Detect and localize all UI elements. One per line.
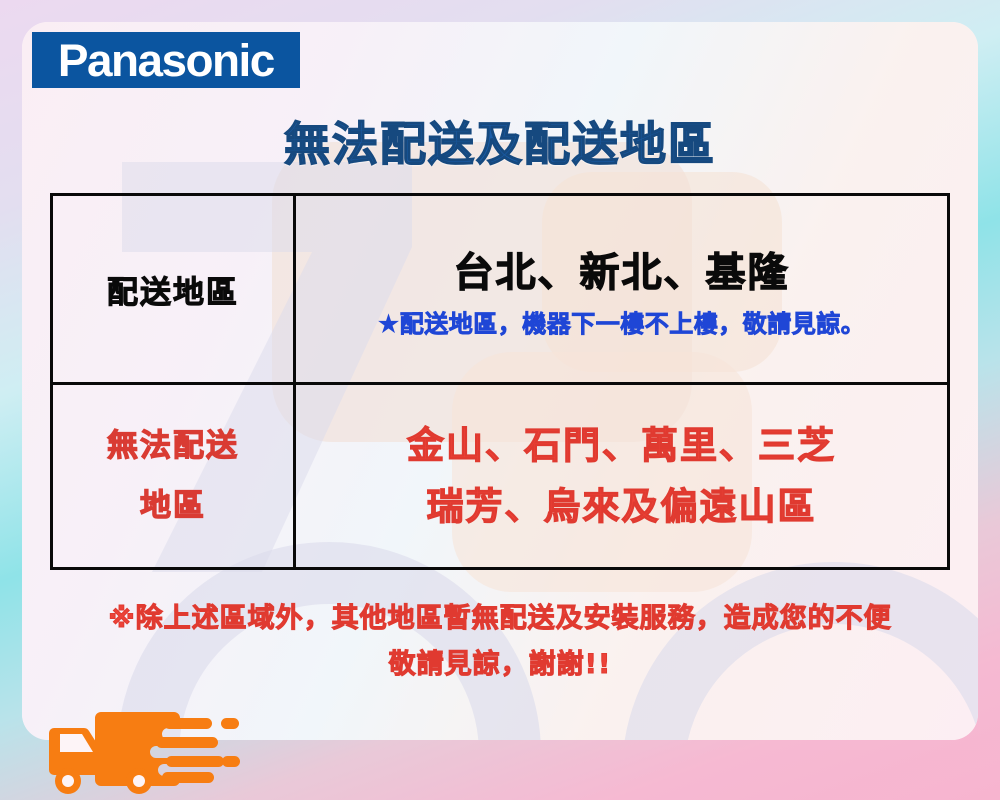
panasonic-logo: Panasonic (32, 32, 300, 88)
delivery-truck-icon (16, 694, 266, 794)
deliverable-note-text: ★配送地區，機器下一樓不上樓，敬請見諒。 (378, 304, 866, 339)
deliverable-areas-text: 台北、新北、基隆 (454, 240, 790, 298)
panasonic-logo-text: Panasonic (58, 38, 274, 83)
footer-note-line2: 敬請見諒，謝謝!! (40, 642, 960, 688)
delivery-area-poster: Panasonic 無法配送及配送地區 配送地區 台北、新北、基隆 ★配送地區，… (0, 0, 1000, 800)
table-row-non-deliverable: 無法配送 地區 金山、石門、萬里、三芝 瑞芳、烏來及偏遠山區 (53, 385, 947, 567)
row-label-non-deliverable: 無法配送 地區 (53, 385, 296, 567)
row-label-non-deliverable-line2: 地區 (140, 476, 206, 536)
delivery-area-table: 配送地區 台北、新北、基隆 ★配送地區，機器下一樓不上樓，敬請見諒。 無法配送 … (50, 193, 950, 570)
table-row-deliverable: 配送地區 台北、新北、基隆 ★配送地區，機器下一樓不上樓，敬請見諒。 (53, 196, 947, 385)
row-body-non-deliverable: 金山、石門、萬里、三芝 瑞芳、烏來及偏遠山區 (296, 385, 947, 567)
non-deliverable-areas-line1: 金山、石門、萬里、三芝 (407, 415, 836, 476)
footer-note-line1: ※除上述區域外，其他地區暫無配送及安裝服務，造成您的不便 (40, 596, 960, 642)
non-deliverable-areas-line2: 瑞芳、烏來及偏遠山區 (427, 476, 817, 537)
row-body-deliverable: 台北、新北、基隆 ★配送地區，機器下一樓不上樓，敬請見諒。 (296, 196, 947, 382)
row-label-deliverable-text: 配送地區 (107, 267, 239, 312)
footer-note: ※除上述區域外，其他地區暫無配送及安裝服務，造成您的不便 敬請見諒，謝謝!! (40, 596, 960, 689)
row-label-non-deliverable-line1: 無法配送 (107, 416, 239, 476)
row-label-deliverable: 配送地區 (53, 196, 296, 382)
page-title: 無法配送及配送地區 (0, 108, 1000, 174)
